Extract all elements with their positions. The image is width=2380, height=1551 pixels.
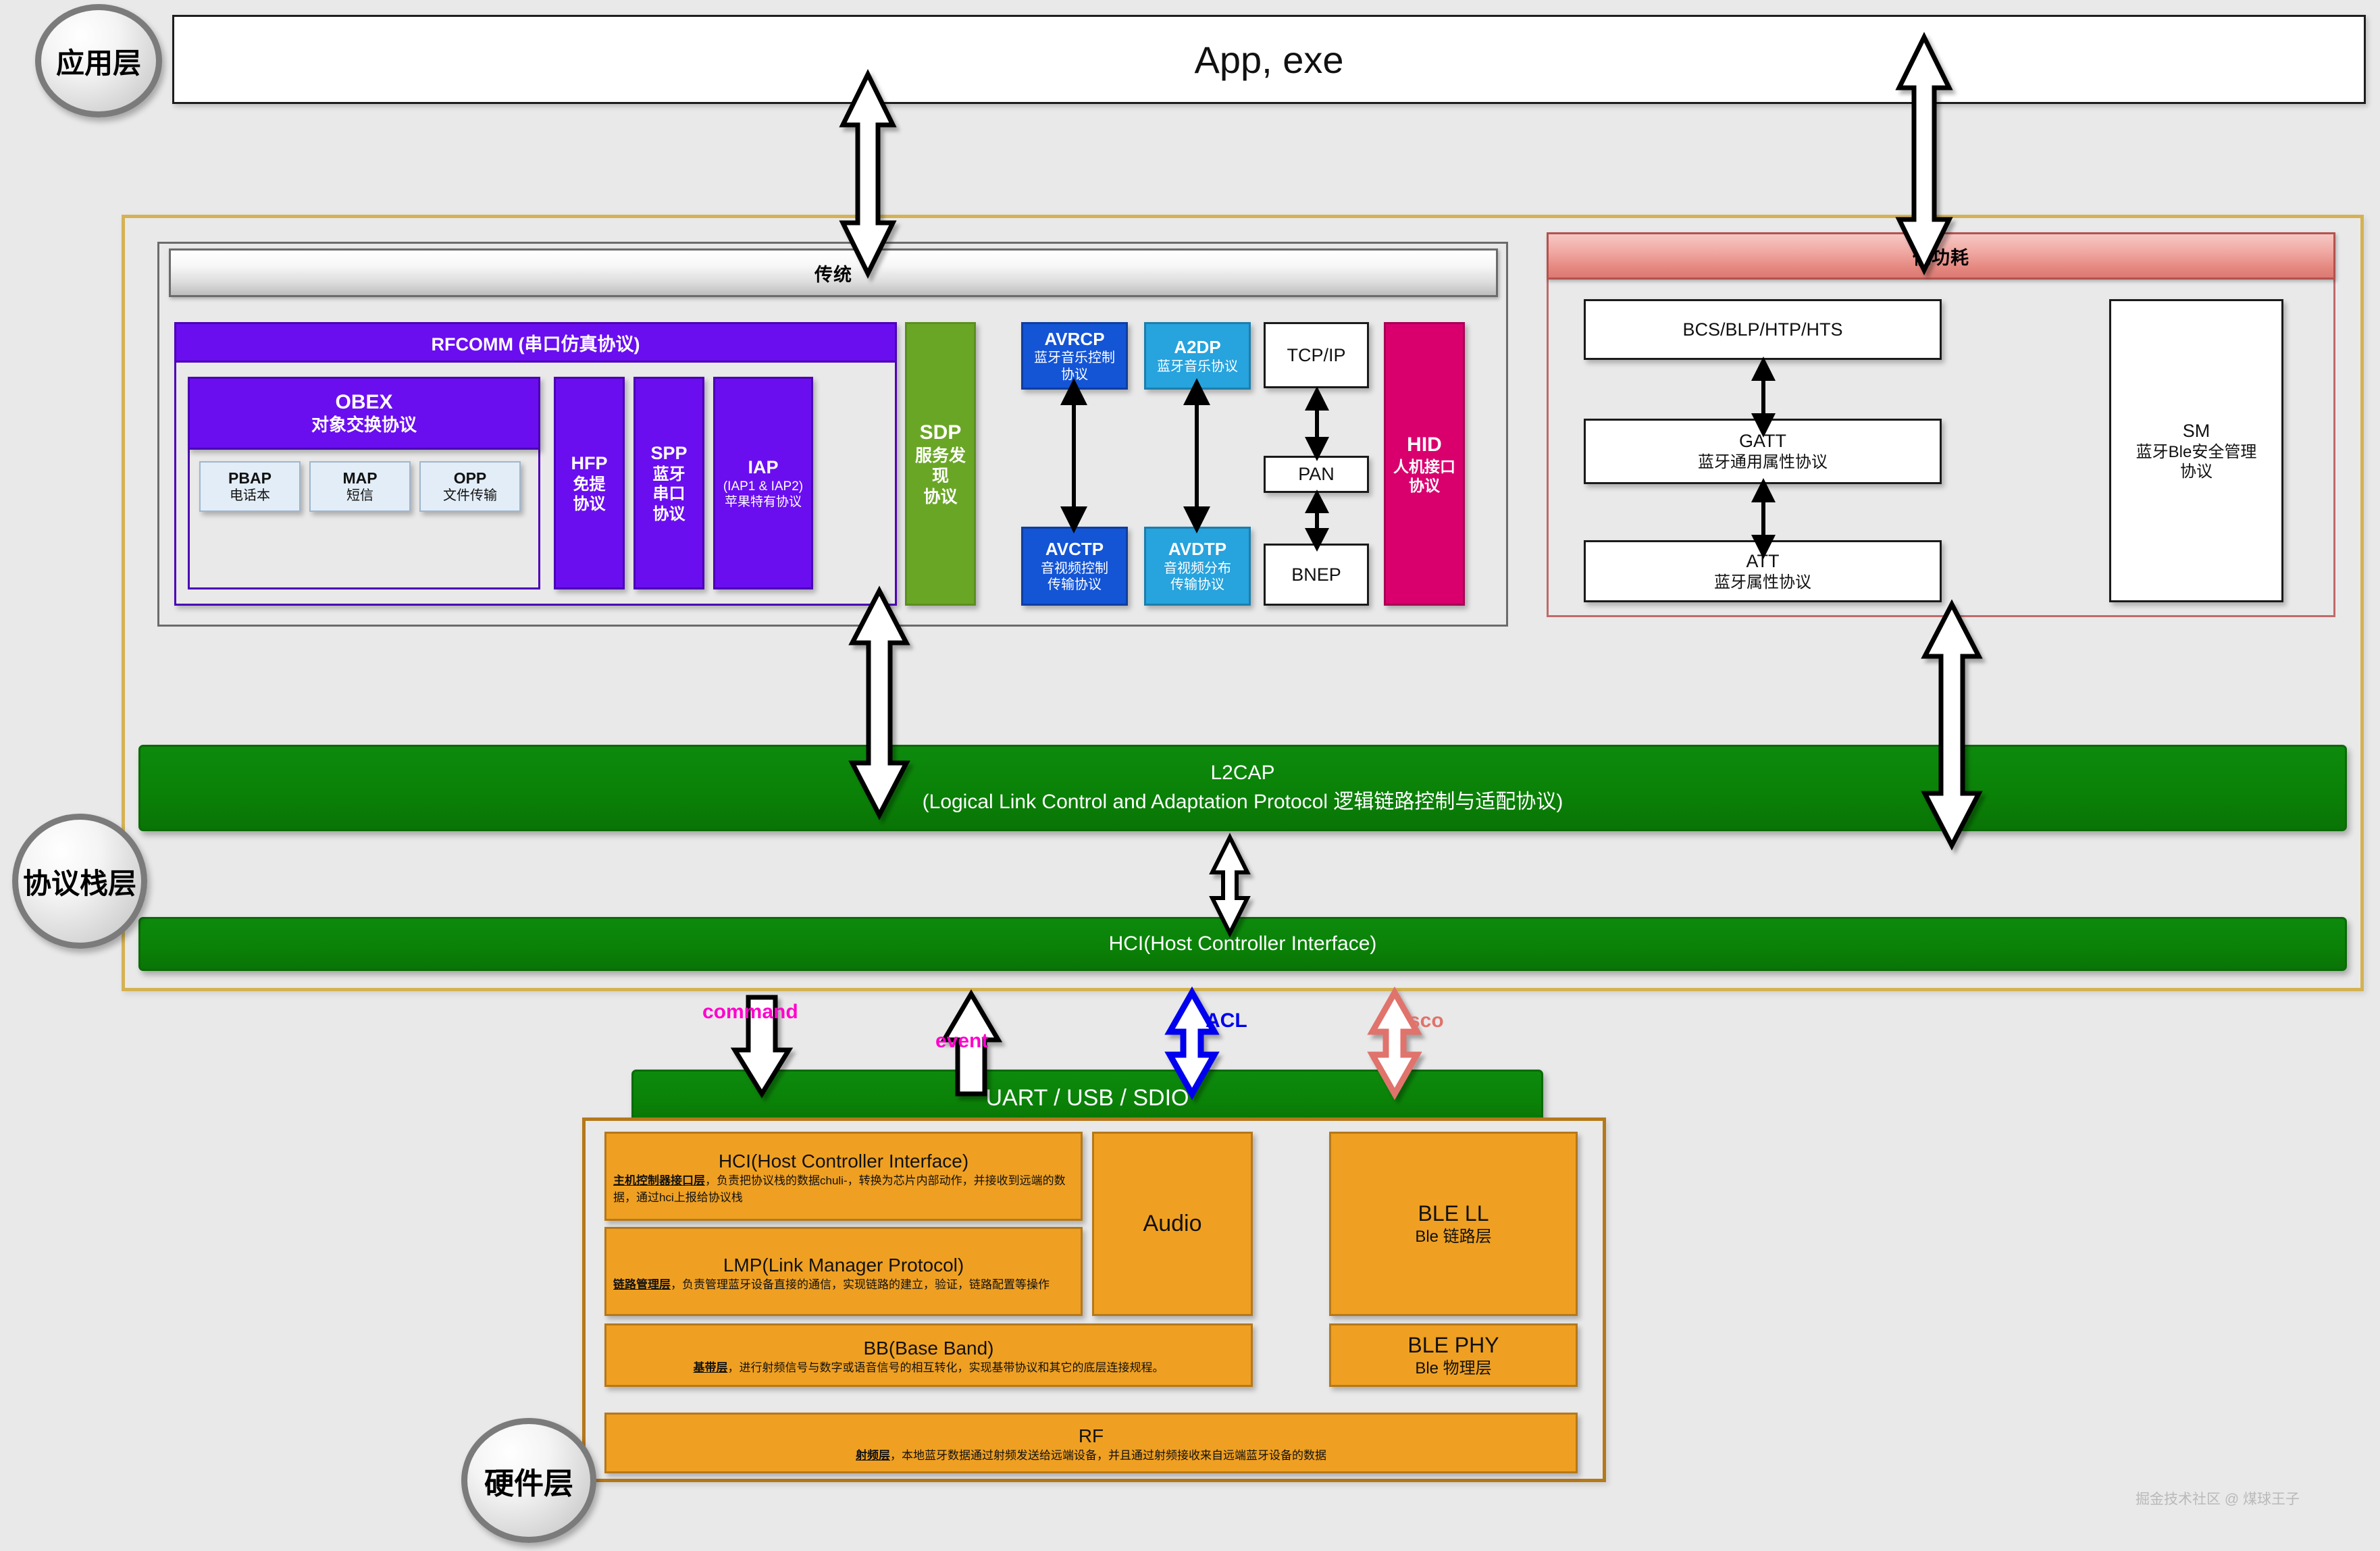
gatt-title: GATT bbox=[1739, 430, 1786, 452]
map-subtitle: 短信 bbox=[346, 488, 373, 504]
l2cap-title: L2CAP bbox=[1210, 762, 1274, 785]
opp-box[interactable]: OPP 文件传输 bbox=[419, 461, 521, 512]
avrcp-line2: 蓝牙音乐控制 bbox=[1034, 350, 1115, 366]
hw-audio-title: Audio bbox=[1143, 1210, 1202, 1238]
att-box[interactable]: ATT 蓝牙属性协议 bbox=[1584, 540, 1942, 602]
hid-line2: 人机接口 bbox=[1393, 457, 1455, 476]
rfcomm-header[interactable]: RFCOMM (串口仿真协议) bbox=[174, 322, 897, 363]
classic-header: 传统 bbox=[169, 248, 1498, 297]
avrcp-line3: 协议 bbox=[1061, 367, 1088, 383]
avrcp-title: AVRCP bbox=[1044, 329, 1104, 350]
pbap-title: PBAP bbox=[228, 469, 271, 488]
iap-box[interactable]: IAP (IAP1 & IAP2) 苹果特有协议 bbox=[713, 377, 813, 589]
arrow-label-acl: ACL bbox=[1206, 1009, 1247, 1032]
hw-rf-text: ，本地蓝牙数据通过射频发送给远端设备，并且通过射频接收来自远端蓝牙设备的数据 bbox=[890, 1449, 1326, 1462]
rfcomm-title: RFCOMM (串口仿真协议) bbox=[432, 330, 640, 356]
sdp-title: SDP bbox=[920, 421, 962, 446]
hw-lmp-box[interactable]: LMP(Link Manager Protocol) 链路管理层，负责管理蓝牙设… bbox=[604, 1227, 1083, 1316]
sm-line2: 蓝牙Ble安全管理 bbox=[2136, 442, 2257, 462]
tcpip-title: TCP/IP bbox=[1287, 344, 1345, 367]
pan-title: PAN bbox=[1298, 463, 1335, 485]
a2dp-line2: 蓝牙音乐协议 bbox=[1157, 359, 1238, 375]
layer-label-hardware: 硬件层 bbox=[484, 1459, 573, 1502]
hw-rf-box[interactable]: RF 射频层，本地蓝牙数据通过射频发送给远端设备，并且通过射频接收来自远端蓝牙设… bbox=[604, 1413, 1578, 1473]
obex-title: OBEX bbox=[335, 390, 392, 415]
spp-line3: 串口 bbox=[653, 484, 685, 504]
hw-ble-ll-title: BLE LL bbox=[1418, 1201, 1489, 1227]
avctp-box[interactable]: AVCTP 音视频控制 传输协议 bbox=[1021, 527, 1128, 606]
app-bar: App, exe bbox=[172, 15, 2366, 104]
sdp-box[interactable]: SDP 服务发现 协议 bbox=[905, 322, 976, 606]
ble-header: 低功耗 bbox=[1547, 232, 2335, 280]
hw-hci-box[interactable]: HCI(Host Controller Interface) 主机控制器接口层，… bbox=[604, 1132, 1083, 1221]
avdtp-title: AVDTP bbox=[1168, 539, 1226, 560]
layer-bubble-protocol-stack: 协议栈层 bbox=[12, 814, 147, 949]
opp-subtitle: 文件传输 bbox=[443, 488, 497, 504]
hw-hci-desc: 主机控制器接口层，负责把协议栈的数据chuli-，转换为芯片内部动作，并接收到远… bbox=[606, 1173, 1081, 1206]
bnep-title: BNEP bbox=[1291, 564, 1341, 586]
hw-bb-title: BB(Base Band) bbox=[864, 1337, 994, 1360]
layer-bubble-hardware: 硬件层 bbox=[461, 1418, 596, 1543]
hfp-line3: 协议 bbox=[573, 494, 606, 514]
avrcp-box[interactable]: AVRCP 蓝牙音乐控制 协议 bbox=[1021, 322, 1128, 390]
map-title: MAP bbox=[342, 469, 377, 488]
hci-bar-title: HCI(Host Controller Interface) bbox=[1109, 932, 1377, 955]
map-box[interactable]: MAP 短信 bbox=[309, 461, 411, 512]
a2dp-title: A2DP bbox=[1174, 337, 1220, 359]
hw-ble-ll-subtitle: Ble 链路层 bbox=[1415, 1227, 1491, 1246]
app-bar-title: App, exe bbox=[1194, 38, 1343, 82]
att-title: ATT bbox=[1747, 550, 1780, 573]
arrow-label-sco: sco bbox=[1409, 1009, 1444, 1032]
spp-line2: 蓝牙 bbox=[653, 465, 685, 484]
att-subtitle: 蓝牙属性协议 bbox=[1714, 573, 1811, 592]
arrow-label-command: command bbox=[702, 1001, 798, 1024]
hw-lmp-text: ，负责管理蓝牙设备直接的通信，实现链路的建立，验证，链路配置等操作 bbox=[671, 1278, 1050, 1291]
sm-line3: 协议 bbox=[2180, 462, 2213, 481]
hid-title: HID bbox=[1407, 433, 1442, 458]
avctp-line2: 音视频控制 bbox=[1041, 560, 1108, 577]
hci-bar[interactable]: HCI(Host Controller Interface) bbox=[138, 917, 2347, 971]
hw-ble-ll-box[interactable]: BLE LL Ble 链路层 bbox=[1329, 1132, 1578, 1316]
transport-bar-title: UART / USB / SDIO bbox=[985, 1085, 1189, 1111]
hw-bb-box[interactable]: BB(Base Band) 基带层，进行射频信号与数字或语音信号的相互转化，实现… bbox=[604, 1323, 1253, 1387]
hfp-title: HFP bbox=[571, 452, 608, 475]
l2cap-subtitle: (Logical Link Control and Adaptation Pro… bbox=[923, 785, 1563, 814]
pan-box[interactable]: PAN bbox=[1264, 456, 1369, 493]
bcs-blp-htp-hts-box[interactable]: BCS/BLP/HTP/HTS bbox=[1584, 299, 1942, 360]
watermark-text: 掘金技术社区 @ 煤球王子 bbox=[2136, 1492, 2300, 1507]
sdp-line2: 服务发现 bbox=[907, 446, 974, 487]
sm-title: SM bbox=[2183, 420, 2210, 442]
classic-header-label: 传统 bbox=[814, 260, 852, 286]
hfp-line2: 免提 bbox=[573, 475, 606, 494]
hfp-box[interactable]: HFP 免提 协议 bbox=[554, 377, 625, 589]
layer-label-protocol-stack: 协议栈层 bbox=[23, 861, 136, 902]
gatt-box[interactable]: GATT 蓝牙通用属性协议 bbox=[1584, 419, 1942, 484]
bcs-title: BCS/BLP/HTP/HTS bbox=[1682, 319, 1842, 341]
hw-lmp-title: LMP(Link Manager Protocol) bbox=[723, 1254, 964, 1277]
obex-box[interactable]: OBEX 对象交换协议 bbox=[188, 377, 540, 450]
hw-rf-desc: 射频层，本地蓝牙数据通过射频发送给远端设备，并且通过射频接收来自远端蓝牙设备的数… bbox=[606, 1448, 1576, 1465]
avdtp-box[interactable]: AVDTP 音视频分布 传输协议 bbox=[1144, 527, 1251, 606]
layer-bubble-application: 应用层 bbox=[35, 4, 162, 117]
layer-label-application: 应用层 bbox=[56, 41, 141, 82]
avctp-title: AVCTP bbox=[1045, 539, 1104, 560]
spp-box[interactable]: SPP 蓝牙 串口 协议 bbox=[633, 377, 704, 589]
hid-line3: 协议 bbox=[1409, 476, 1440, 495]
hw-lmp-bold: 链路管理层 bbox=[613, 1278, 671, 1291]
avdtp-line2: 音视频分布 bbox=[1164, 560, 1231, 577]
gatt-subtitle: 蓝牙通用属性协议 bbox=[1698, 452, 1828, 472]
iap-line2: (IAP1 & IAP2) bbox=[723, 479, 803, 494]
pbap-subtitle: 电话本 bbox=[230, 488, 270, 504]
a2dp-box[interactable]: A2DP 蓝牙音乐协议 bbox=[1144, 322, 1251, 390]
spp-title: SPP bbox=[650, 442, 687, 465]
bnep-box[interactable]: BNEP bbox=[1264, 544, 1369, 606]
avdtp-line3: 传输协议 bbox=[1170, 577, 1224, 593]
hw-ble-phy-box[interactable]: BLE PHY Ble 物理层 bbox=[1329, 1323, 1578, 1387]
spp-line4: 协议 bbox=[653, 504, 685, 524]
hw-rf-bold: 射频层 bbox=[856, 1449, 890, 1462]
iap-line3: 苹果特有协议 bbox=[725, 494, 802, 510]
pbap-box[interactable]: PBAP 电话本 bbox=[199, 461, 301, 512]
obex-subtitle: 对象交换协议 bbox=[311, 415, 417, 436]
l2cap-bar[interactable]: L2CAP (Logical Link Control and Adaptati… bbox=[138, 745, 2347, 831]
iap-title: IAP bbox=[748, 456, 778, 479]
hw-ble-phy-title: BLE PHY bbox=[1407, 1332, 1499, 1359]
hw-hci-title: HCI(Host Controller Interface) bbox=[719, 1150, 968, 1173]
hw-audio-box[interactable]: Audio bbox=[1092, 1132, 1253, 1316]
hw-bb-desc: 基带层，进行射频信号与数字或语音信号的相互转化，实现基带协议和其它的底层连接规程… bbox=[606, 1360, 1251, 1377]
hw-rf-title: RF bbox=[1079, 1425, 1104, 1448]
hw-bb-bold: 基带层 bbox=[694, 1361, 728, 1374]
sdp-line3: 协议 bbox=[923, 487, 957, 508]
hid-box[interactable]: HID 人机接口 协议 bbox=[1384, 322, 1465, 606]
hw-bb-text: ，进行射频信号与数字或语音信号的相互转化，实现基带协议和其它的底层连接规程。 bbox=[728, 1361, 1164, 1374]
ble-header-label: 低功耗 bbox=[1913, 243, 1969, 269]
arrow-label-event: event bbox=[935, 1030, 988, 1053]
hw-lmp-desc: 链路管理层，负责管理蓝牙设备直接的通信，实现链路的建立，验证，链路配置等操作 bbox=[606, 1277, 1081, 1294]
hw-hci-bold: 主机控制器接口层 bbox=[613, 1174, 705, 1187]
opp-title: OPP bbox=[454, 469, 487, 488]
sm-box[interactable]: SM 蓝牙Ble安全管理 协议 bbox=[2109, 299, 2283, 602]
watermark: 掘金技术社区 @ 煤球王子 bbox=[2136, 1488, 2300, 1508]
hw-ble-phy-subtitle: Ble 物理层 bbox=[1415, 1359, 1491, 1378]
tcpip-box[interactable]: TCP/IP bbox=[1264, 322, 1369, 388]
avctp-line3: 传输协议 bbox=[1047, 577, 1102, 593]
